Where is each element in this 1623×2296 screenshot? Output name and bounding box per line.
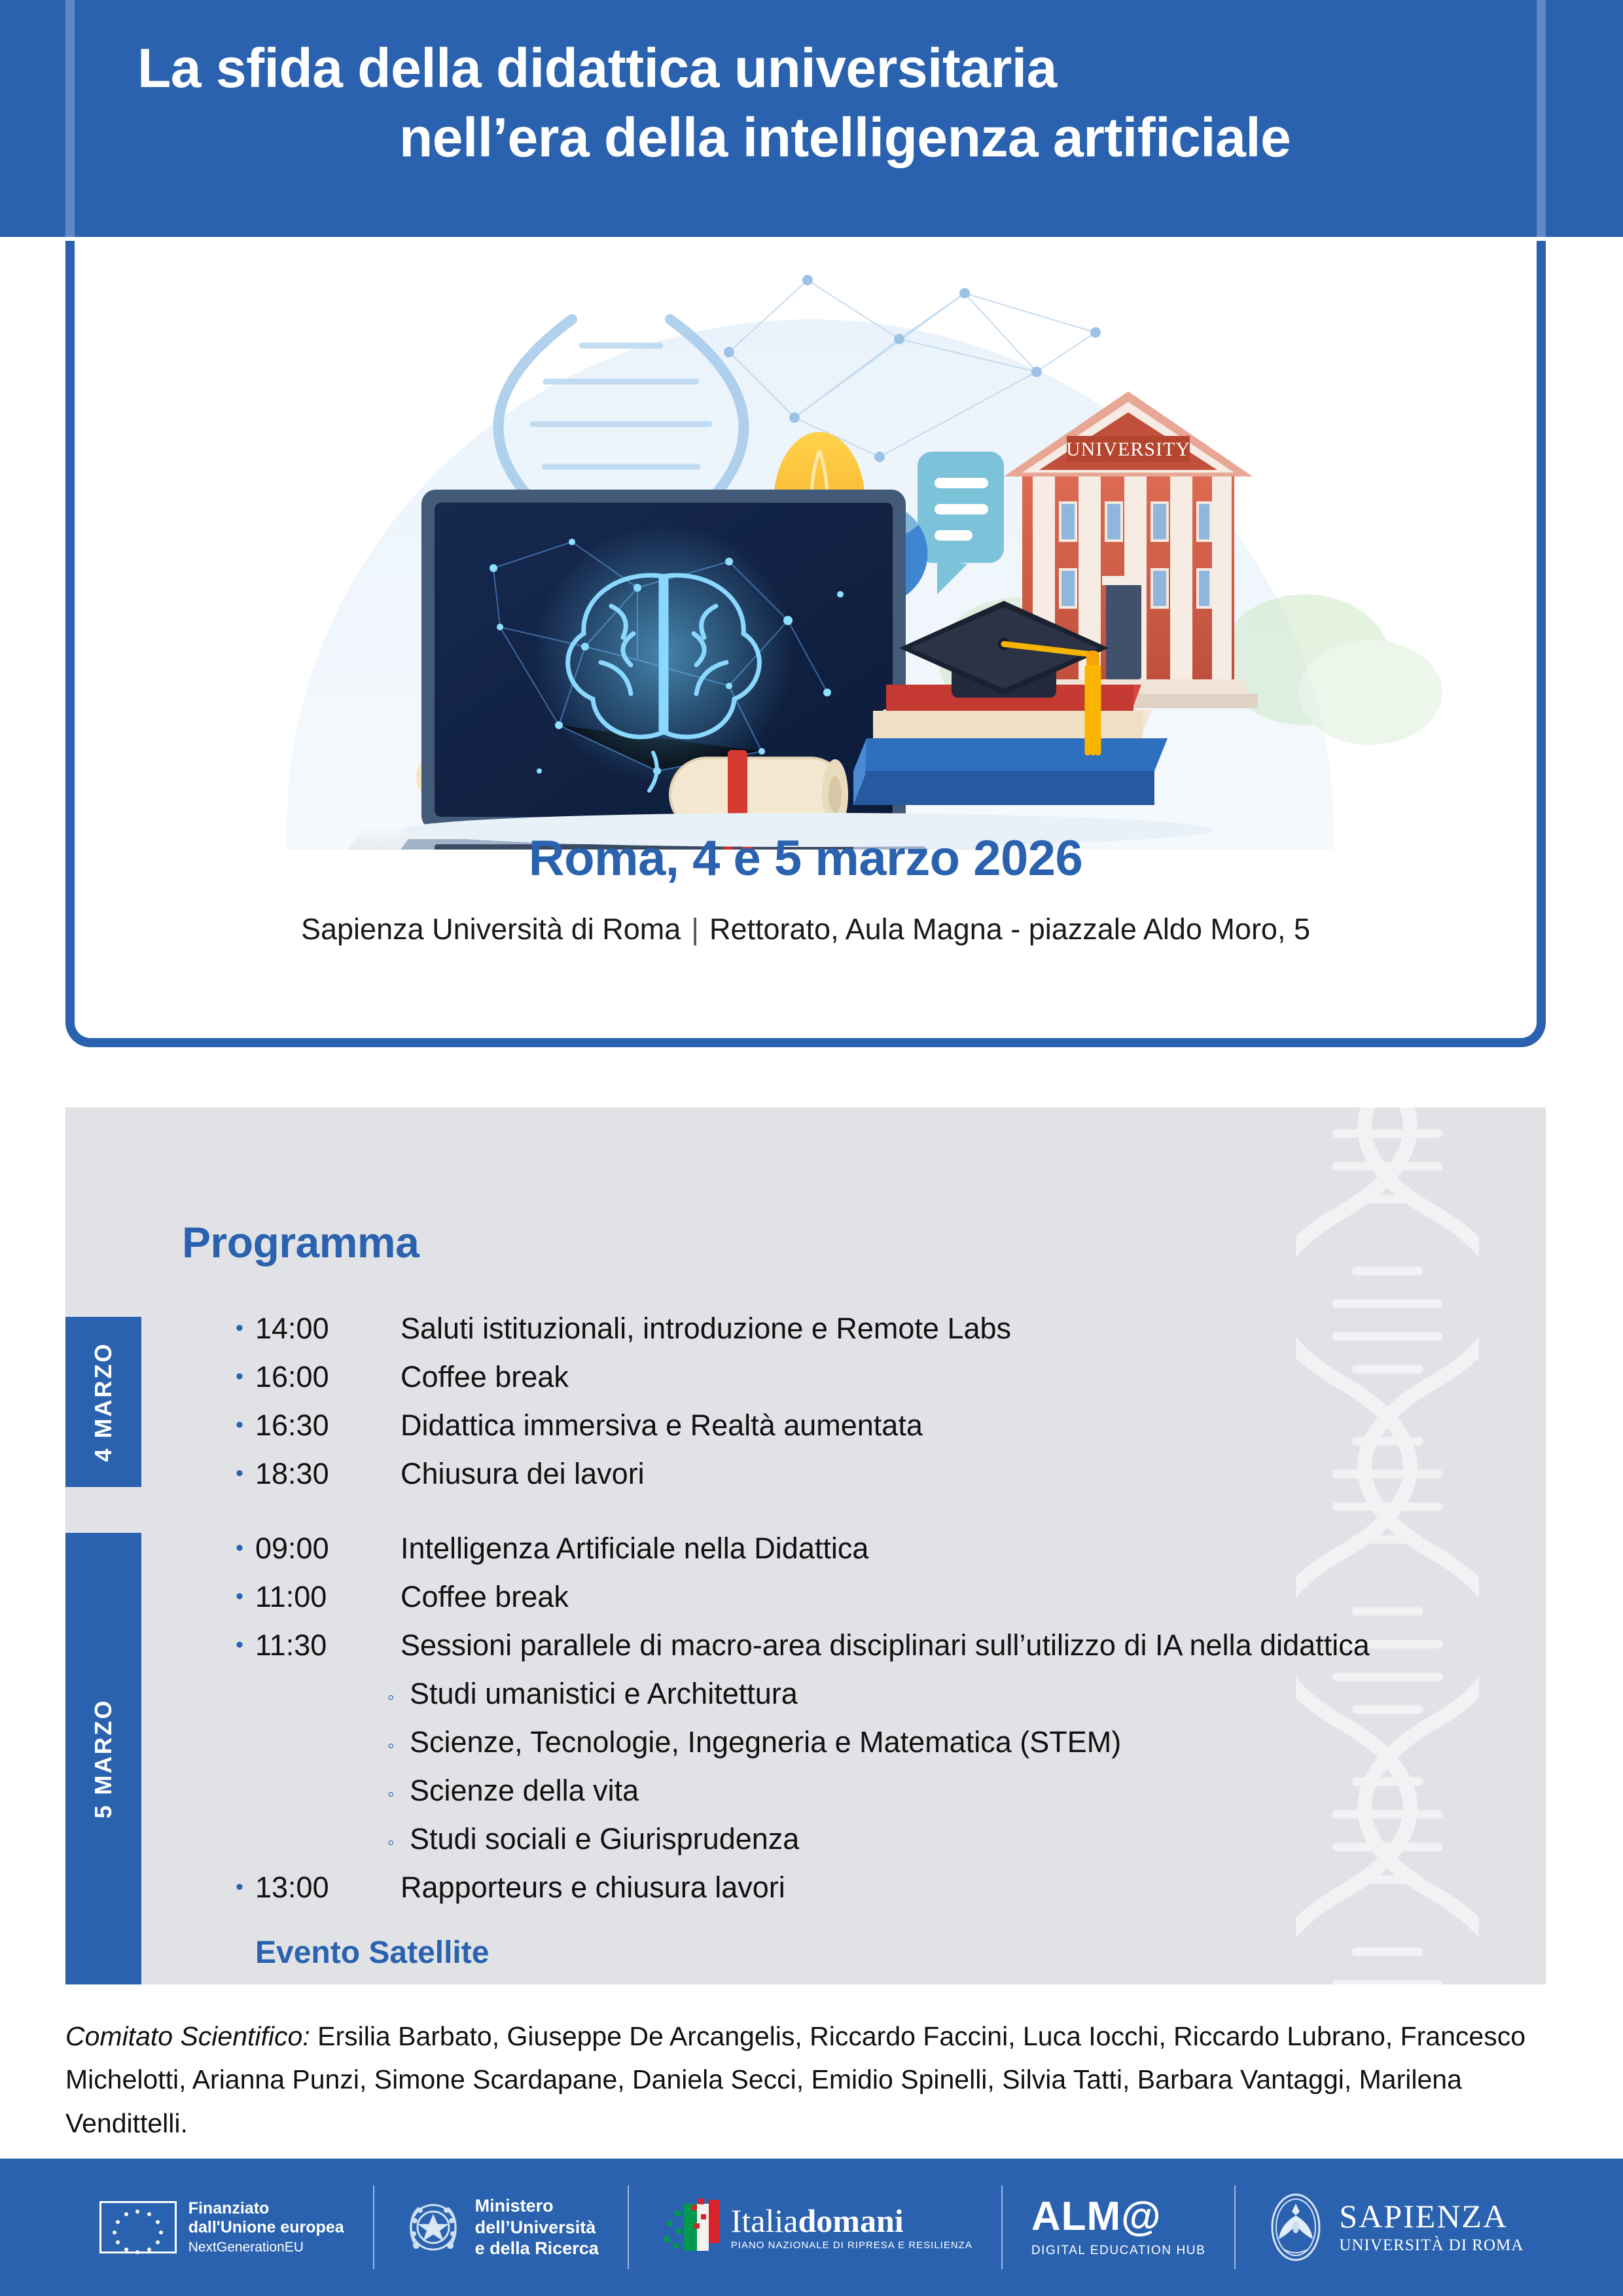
schedule-row: • 14:00 Saluti istituzionali, introduzio… (236, 1312, 1011, 1346)
eu-line-1: Finanziato (188, 2199, 344, 2218)
scientific-committee: Comitato Scientifico: Ersilia Barbato, G… (65, 2015, 1564, 2145)
bullet-icon: • (236, 1462, 255, 1484)
schedule-time: 11:00 (255, 1580, 401, 1614)
circle-bullet-icon: ◦ (387, 1833, 410, 1853)
bullet-icon: • (236, 1317, 255, 1339)
title-line-2: nell’era della intelligenza artificiale (98, 103, 1512, 173)
alma-subtitle: DIGITAL EDUCATION HUB (1031, 2244, 1206, 2258)
event-venue: Sapienza Università di Roma|Rettorato, A… (75, 912, 1537, 946)
schedule-time: 14:00 (255, 1312, 401, 1346)
italiadomani-part-1: Italia (731, 2202, 798, 2239)
session-label: Studi sociali e Giurisprudenza (410, 1822, 799, 1856)
italian-flag-pixel-icon (658, 2195, 721, 2260)
day-tab-5-marzo: 5 MARZO (65, 1533, 141, 1984)
alma-wordmark: ALM@ (1031, 2197, 1206, 2237)
eu-logo-text: Finanziato dall'Unione europea NextGener… (188, 2199, 344, 2255)
italian-republic-emblem-icon (403, 2193, 463, 2261)
italiadomani-subtitle: PIANO NAZIONALE DI RIPRESA E RESILIENZA (731, 2240, 972, 2251)
list-item: ◦ Studi umanistici e Architettura (387, 1677, 1370, 1711)
circle-bullet-icon: ◦ (387, 1785, 410, 1804)
schedule-row: • 11:00 Coffee break (236, 1580, 1370, 1614)
satellite-event-heading: Evento Satellite (255, 1935, 1370, 1971)
schedule-time: 09:00 (255, 1532, 401, 1566)
schedule-label: Didattica immersiva e Realtà aumentata (401, 1408, 923, 1443)
header-rule-right-icon (1537, 0, 1546, 237)
schedule-time: 16:30 (255, 1408, 401, 1443)
ministero-line-3: e della Ricerca (475, 2238, 599, 2259)
schedule-row: • 18:30 Chiusura dei lavori (236, 1457, 1011, 1491)
sapienza-seal-icon (1264, 2189, 1327, 2265)
ministero-line-1: Ministero (475, 2195, 599, 2216)
schedule-block-day-2: • 09:00 Intelligenza Artificiale nella D… (236, 1532, 1370, 1984)
italiadomani-logo-text: Italiadomani PIANO NAZIONALE DI RIPRESA … (731, 2204, 972, 2251)
venue-place: Rettorato, Aula Magna - piazzale Aldo Mo… (709, 912, 1310, 946)
ministero-line-2: dell’Università (475, 2217, 599, 2238)
header-rule-left-icon (65, 0, 75, 237)
schedule-label: Saluti istituzionali, introduzione e Rem… (401, 1312, 1011, 1346)
session-label: Scienze, Tecnologie, Ingegneria e Matema… (410, 1725, 1121, 1759)
bullet-icon: • (236, 1537, 255, 1559)
bullet-icon: • (236, 1634, 255, 1656)
eu-line-3: NextGenerationEU (188, 2240, 344, 2255)
bullet-icon: • (236, 1876, 255, 1898)
venue-institution: Sapienza Università di Roma (301, 912, 681, 946)
bullet-icon: • (236, 1414, 255, 1436)
poster-header: La sfida della didattica universitaria n… (0, 0, 1623, 237)
session-label: Studi umanistici e Architettura (410, 1677, 798, 1711)
schedule-label: Chiusura dei lavori (401, 1457, 645, 1491)
hero-illustration: UNIVERSITY (75, 241, 1546, 850)
alma-logo-text: ALM@ DIGITAL EDUCATION HUB (1031, 2197, 1206, 2258)
eu-flag-icon (99, 2201, 177, 2253)
schedule-label: Coffee break (401, 1360, 569, 1394)
list-item: ◦ Scienze, Tecnologie, Ingegneria e Mate… (387, 1725, 1370, 1759)
schedule-row: • 16:00 Coffee break (236, 1360, 1011, 1394)
schedule-row: • 09:00 Intelligenza Artificiale nella D… (236, 1532, 1370, 1566)
bullet-icon: • (236, 1365, 255, 1388)
list-item: ◦ Scienze della vita (387, 1774, 1370, 1808)
circle-bullet-icon: ◦ (387, 1688, 410, 1708)
schedule-label: Rapporteurs e chiusura lavori (401, 1871, 785, 1905)
committee-label: Comitato Scientifico: (65, 2021, 310, 2051)
schedule-label: Sessioni parallele di macro-area discipl… (401, 1628, 1370, 1662)
parallel-sessions-list: ◦ Studi umanistici e Architettura ◦ Scie… (387, 1677, 1370, 1856)
schedule-label: Coffee break (401, 1580, 569, 1614)
schedule-time: 16:00 (255, 1360, 401, 1394)
programme-heading: Programma (182, 1217, 419, 1267)
event-date: Roma, 4 e 5 marzo 2026 (75, 830, 1537, 887)
university-sign-text: UNIVERSITY (1066, 439, 1190, 460)
schedule-block-day-1: • 14:00 Saluti istituzionali, introduzio… (236, 1312, 1011, 1505)
sapienza-logo-text: SAPIENZA UNIVERSITÀ DI ROMA (1339, 2200, 1524, 2255)
italiadomani-part-2: domani (798, 2202, 903, 2239)
logo-italiadomani: Italiadomani PIANO NAZIONALE DI RIPRESA … (629, 2185, 1001, 2270)
page-title: La sfida della didattica universitaria n… (98, 34, 1512, 173)
schedule-row: • 13:00 Rapporteurs e chiusura lavori (236, 1871, 1370, 1905)
italiadomani-wordmark: Italiadomani (731, 2204, 972, 2237)
sapienza-wordmark: SAPIENZA (1339, 2200, 1524, 2233)
logo-eu: Finanziato dall'Unione europea NextGener… (71, 2185, 373, 2270)
list-item: ◦ Studi sociali e Giurisprudenza (387, 1822, 1370, 1856)
eu-line-2: dall'Unione europea (188, 2218, 344, 2237)
schedule-time: 11:30 (255, 1628, 401, 1662)
schedule-time: 18:30 (255, 1457, 401, 1491)
logo-ministero: Ministero dell’Università e della Ricerc… (374, 2185, 628, 2270)
schedule-row: • 16:30 Didattica immersiva e Realtà aum… (236, 1408, 1011, 1443)
poster-footer: Finanziato dall'Unione europea NextGener… (0, 2159, 1623, 2296)
programme-panel: Programma 4 MARZO • 14:00 Saluti istituz… (65, 1107, 1546, 1984)
ministero-logo-text: Ministero dell’Università e della Ricerc… (475, 2195, 599, 2259)
venue-separator: | (681, 912, 709, 946)
sapienza-subtitle: UNIVERSITÀ DI ROMA (1339, 2236, 1524, 2255)
logo-sapienza: SAPIENZA UNIVERSITÀ DI ROMA (1236, 2185, 1552, 2270)
logo-alma: ALM@ DIGITAL EDUCATION HUB (1003, 2185, 1235, 2270)
day-tab-4-marzo: 4 MARZO (65, 1317, 141, 1487)
session-label: Scienze della vita (410, 1774, 639, 1808)
bullet-icon: • (236, 1585, 255, 1607)
schedule-time: 13:00 (255, 1871, 401, 1905)
title-line-1: La sfida della didattica universitaria (98, 34, 1512, 103)
schedule-label: Intelligenza Artificiale nella Didattica (401, 1532, 868, 1566)
day-tab-4-marzo-label: 4 MARZO (90, 1342, 117, 1462)
circle-bullet-icon: ◦ (387, 1736, 410, 1756)
schedule-row: • 11:30 Sessioni parallele di macro-area… (236, 1628, 1370, 1662)
hero-card: UNIVERSITY (65, 241, 1546, 1047)
day-tab-5-marzo-label: 5 MARZO (90, 1699, 117, 1819)
poster-root: La sfida della didattica universitaria n… (0, 0, 1623, 2296)
